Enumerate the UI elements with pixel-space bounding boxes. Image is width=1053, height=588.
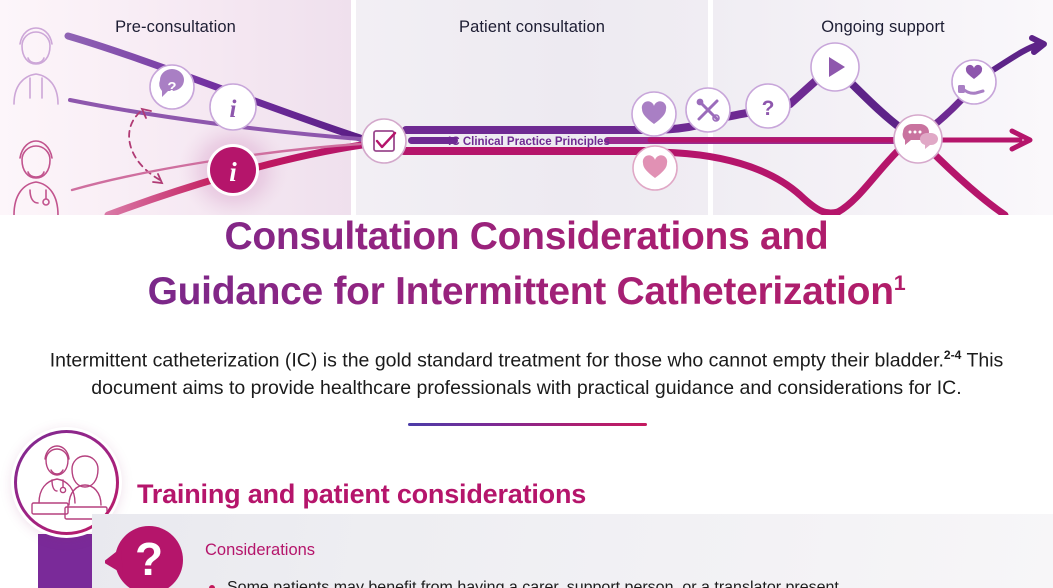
heart-outline-icon xyxy=(633,146,677,190)
question-bubble-icon: ? xyxy=(150,65,194,109)
journey-pathway-diagram: IC Clinical Practice Principles ? xyxy=(0,0,1053,215)
patient-outline-icon xyxy=(14,28,58,104)
checkbox-checked-icon xyxy=(362,119,406,163)
svg-text:i: i xyxy=(230,96,237,123)
title-line-2: Guidance for Intermittent Catheterizatio… xyxy=(148,270,894,313)
infographic-page: Pre-consultation Patient consultation On… xyxy=(0,0,1053,588)
title-line-1: Consultation Considerations and xyxy=(225,215,829,258)
intro-part-1: Intermittent catheterization (IC) is the… xyxy=(50,349,944,371)
chat-bubbles-icon xyxy=(894,115,942,163)
list-item-text: Some patients may benefit from having a … xyxy=(227,579,839,588)
svg-text:?: ? xyxy=(135,533,163,585)
patient-journey-banner: Pre-consultation Patient consultation On… xyxy=(0,0,1053,215)
considerations-label: Considerations xyxy=(205,541,315,560)
question-mark-icon: ? xyxy=(746,84,790,128)
svg-text:i: i xyxy=(229,157,237,187)
considerations-bullet-list: Some patients may benefit from having a … xyxy=(205,576,1035,588)
question-mark-bubble-icon: ? xyxy=(105,520,193,588)
svg-text:?: ? xyxy=(762,97,775,120)
svg-text:?: ? xyxy=(167,79,176,96)
pathway-label: IC Clinical Practice Principles xyxy=(448,136,610,148)
page-title: Consultation Considerations and Guidance… xyxy=(0,213,1053,315)
clinician-outline-icon xyxy=(14,141,58,215)
tools-icon xyxy=(686,88,730,132)
question-bubble-badge: ? xyxy=(105,520,193,588)
section-accent-bar xyxy=(38,534,92,588)
title-superscript: 1 xyxy=(894,271,906,295)
list-item: Some patients may benefit from having a … xyxy=(205,576,1035,588)
hand-heart-icon xyxy=(952,60,996,104)
play-video-icon xyxy=(811,43,859,91)
information-highlight-icon: i xyxy=(207,144,259,196)
section-title: Training and patient considerations xyxy=(137,479,586,510)
heart-icon xyxy=(632,92,676,136)
information-icon: i xyxy=(210,84,256,130)
intro-superscript: 2-4 xyxy=(944,348,961,362)
intro-paragraph: Intermittent catheterization (IC) is the… xyxy=(40,342,1013,403)
section-divider xyxy=(408,423,647,426)
